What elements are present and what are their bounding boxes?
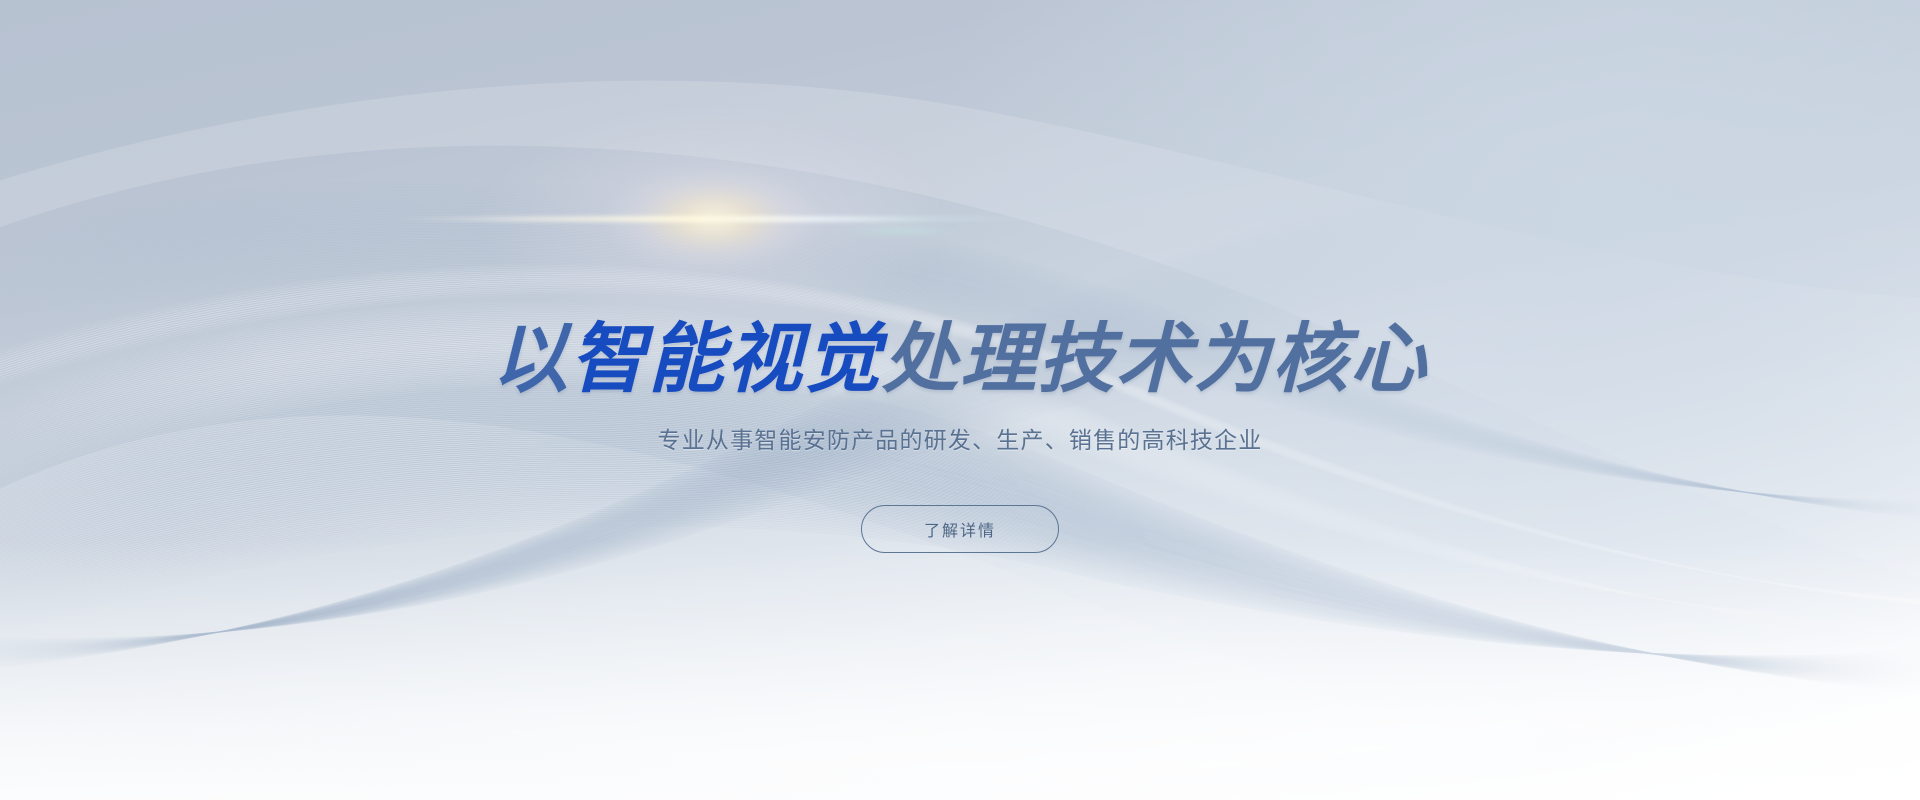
hero-subtitle: 专业从事智能安防产品的研发、生产、销售的高科技企业 [0, 423, 1920, 457]
headline-segment-1: 以 [492, 317, 570, 402]
hero-banner: 以智能视觉处理技术为核心 专业从事智能安防产品的研发、生产、销售的高科技企业 了… [0, 0, 1920, 800]
headline-segment-3: 处理技术为核心 [882, 317, 1428, 402]
headline-segment-2: 智能视觉 [570, 317, 882, 402]
hero-content: 以智能视觉处理技术为核心 专业从事智能安防产品的研发、生产、销售的高科技企业 了… [0, 0, 1920, 800]
learn-more-button[interactable]: 了解详情 [861, 505, 1059, 553]
hero-cta-row: 了解详情 [0, 505, 1920, 553]
hero-headline: 以智能视觉处理技术为核心 [0, 317, 1920, 403]
